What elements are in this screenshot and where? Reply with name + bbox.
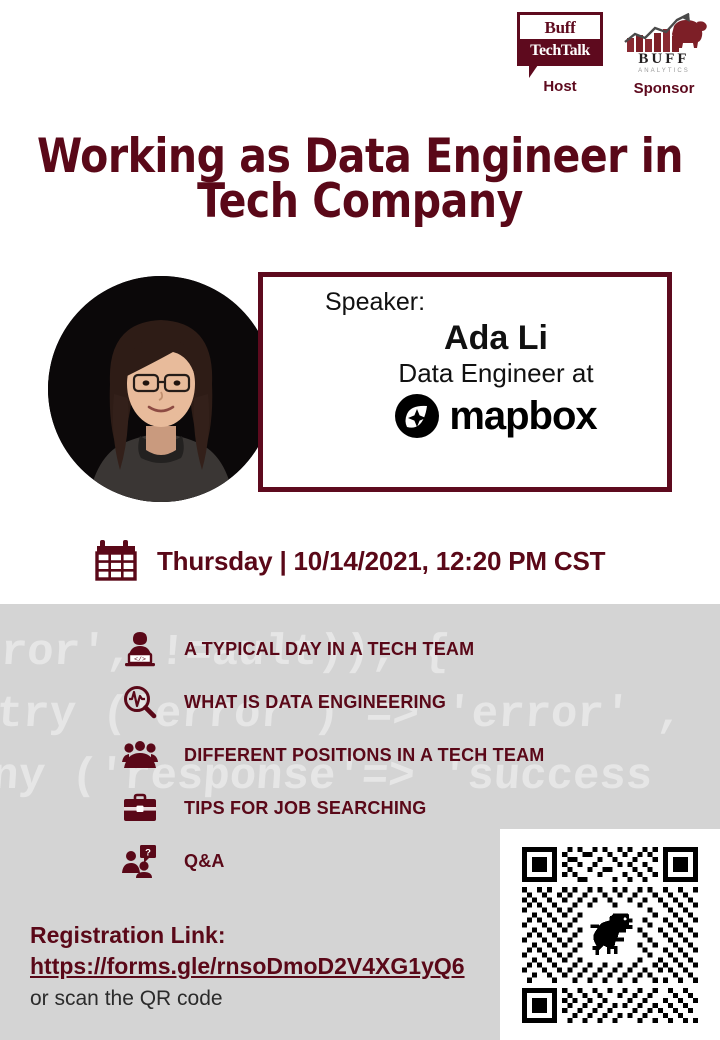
svg-text:</>: </> bbox=[134, 656, 146, 663]
sponsor-caption: Sponsor bbox=[634, 81, 695, 96]
portrait-illustration bbox=[48, 276, 274, 502]
registration-link[interactable]: https://forms.gle/rnsoDmoD2V4XG1yQ6 bbox=[30, 951, 465, 982]
qr-code-with-dinosaur[interactable] bbox=[517, 842, 703, 1028]
speaker-role: Data Engineer at bbox=[398, 359, 593, 389]
agenda-item-label: Q&A bbox=[184, 852, 225, 870]
speaker-name: Ada Li bbox=[444, 319, 548, 358]
people-question-icon: ? bbox=[118, 844, 162, 878]
agenda-item: DIFFERENT POSITIONS IN A TECH TEAM bbox=[118, 730, 678, 780]
agenda-panel: rror', !=ault)); { ntry ('error') => 'er… bbox=[0, 604, 720, 1040]
event-datetime-row: Thursday | 10/14/2021, 12:20 PM CST bbox=[95, 538, 605, 584]
agenda-item: </> A TYPICAL DAY IN A TECH TEAM bbox=[118, 624, 678, 674]
page-title: Working as Data Engineer in Tech Company bbox=[11, 134, 709, 224]
agenda-item: WHAT IS DATA ENGINEERING bbox=[118, 677, 678, 727]
registration-note: or scan the QR code bbox=[30, 984, 500, 1014]
buff-analytics-subtitle: ANALYTICS bbox=[619, 68, 709, 74]
registration-title: Registration Link: bbox=[30, 920, 500, 951]
agenda-item-label: A TYPICAL DAY IN A TECH TEAM bbox=[184, 640, 474, 658]
person-at-laptop-icon: </> bbox=[118, 631, 162, 667]
buff-techtalk-speech-bubble-logo: Buff TechTalk bbox=[517, 12, 603, 72]
event-poster: Buff TechTalk Host bbox=[0, 0, 720, 1040]
calendar-icon bbox=[95, 538, 141, 584]
svg-text:?: ? bbox=[145, 848, 151, 859]
sponsor-logo-group: BUFF ANALYTICS Sponsor bbox=[616, 12, 712, 96]
agenda-item-label: WHAT IS DATA ENGINEERING bbox=[184, 693, 446, 711]
speaker-label: Speaker: bbox=[325, 289, 425, 317]
agenda-item-label: DIFFERENT POSITIONS IN A TECH TEAM bbox=[184, 746, 544, 764]
techtalk-logo-line1: Buff bbox=[520, 15, 600, 39]
host-caption: Host bbox=[543, 79, 576, 94]
speaker-info-box: Speaker: Ada Li Data Engineer at mapbox bbox=[258, 272, 672, 492]
buff-analytics-name: BUFF bbox=[619, 52, 709, 67]
briefcase-icon bbox=[118, 793, 162, 823]
mapbox-compass-logo: mapbox bbox=[395, 394, 596, 438]
mapbox-wordmark: mapbox bbox=[449, 396, 596, 436]
techtalk-logo-line2: TechTalk bbox=[520, 39, 600, 63]
buff-analytics-buffalo-chart-logo: BUFF ANALYTICS bbox=[619, 12, 709, 74]
buffalo-chart-icon bbox=[619, 12, 709, 56]
agenda-item-label: TIPS FOR JOB SEARCHING bbox=[184, 799, 426, 817]
speaker-portrait-photo bbox=[48, 276, 274, 502]
magnifier-pulse-icon bbox=[118, 685, 162, 719]
speech-bubble-tail-icon bbox=[529, 65, 538, 78]
group-of-people-icon bbox=[118, 741, 162, 769]
mapbox-mark-icon bbox=[395, 394, 439, 438]
qr-code-card[interactable] bbox=[500, 829, 720, 1040]
logo-bar: Buff TechTalk Host bbox=[512, 12, 712, 112]
event-datetime-text: Thursday | 10/14/2021, 12:20 PM CST bbox=[157, 548, 605, 574]
registration-block: Registration Link: https://forms.gle/rns… bbox=[30, 920, 500, 1014]
agenda-item: TIPS FOR JOB SEARCHING bbox=[118, 783, 678, 833]
host-logo-group: Buff TechTalk Host bbox=[512, 12, 608, 94]
